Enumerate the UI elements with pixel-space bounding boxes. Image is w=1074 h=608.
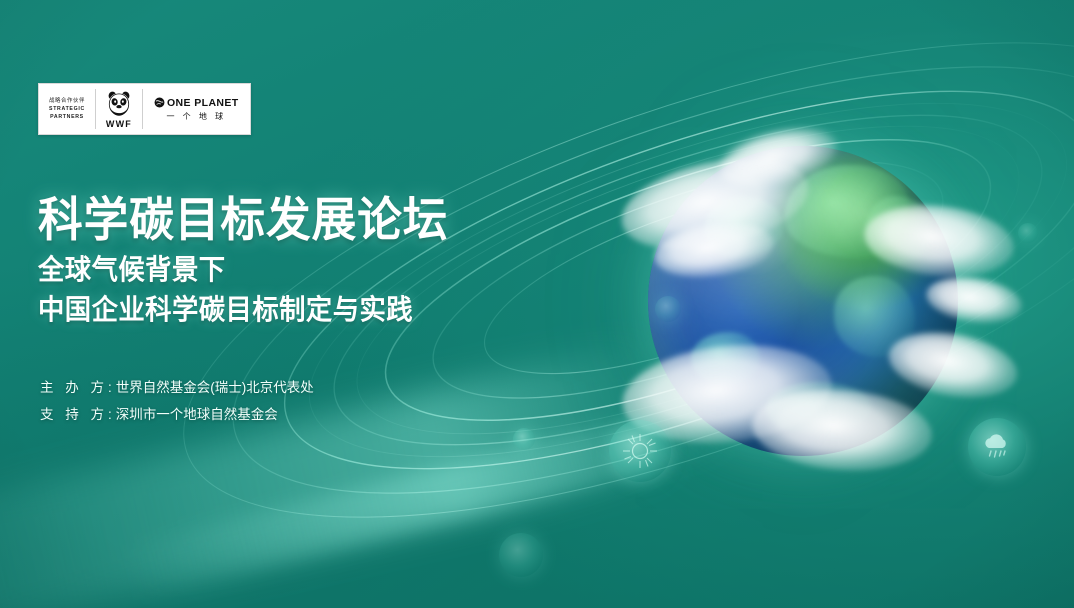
glow-orb-icon bbox=[513, 428, 535, 450]
globe-mark-icon bbox=[154, 97, 165, 108]
main-title: 科学碳目标发展论坛 bbox=[38, 196, 448, 243]
partner-cn-label: 战略合作伙伴 bbox=[49, 97, 85, 105]
supporter-value: 深圳市一个地球自然基金会 bbox=[116, 407, 278, 422]
partner-logo-bar: 战略合作伙伴 STRATEGIC PARTNERS WWF bbox=[38, 83, 251, 135]
credits-block: 主 办 方:世界自然基金会(瑞士)北京代表处 支 持 方:深圳市一个地球自然基金… bbox=[40, 381, 314, 434]
organizer-line: 主 办 方:世界自然基金会(瑞士)北京代表处 bbox=[40, 381, 314, 395]
wwf-wordmark: WWF bbox=[106, 119, 132, 129]
glow-orb-icon bbox=[499, 533, 543, 577]
wwf-logo-block: WWF bbox=[96, 84, 142, 134]
rain-cloud-icon bbox=[980, 430, 1014, 464]
supporter-line: 支 持 方:深圳市一个地球自然基金会 bbox=[40, 408, 314, 422]
organizer-label: 主 办 方: bbox=[40, 380, 116, 395]
rain-cloud-orb bbox=[968, 418, 1026, 476]
one-planet-en-text: ONE PLANET bbox=[167, 97, 239, 109]
partner-en-line1: STRATEGIC bbox=[49, 105, 85, 113]
one-planet-cn-text: 一 个 地 球 bbox=[166, 111, 226, 122]
strategic-partners-block: 战略合作伙伴 STRATEGIC PARTNERS bbox=[39, 84, 95, 134]
partner-en-line2: PARTNERS bbox=[50, 113, 84, 121]
sun-icon bbox=[620, 431, 660, 471]
sun-orb bbox=[609, 420, 671, 482]
glow-orb-icon bbox=[655, 296, 681, 322]
subtitle-line-1: 全球气候背景下 bbox=[38, 256, 226, 284]
panda-icon bbox=[105, 90, 133, 118]
subtitle-line-2: 中国企业科学碳目标制定与实践 bbox=[38, 296, 413, 324]
glow-orb-icon bbox=[1018, 223, 1038, 243]
one-planet-wordmark: ONE PLANET bbox=[154, 97, 239, 109]
organizer-value: 世界自然基金会(瑞士)北京代表处 bbox=[116, 380, 314, 395]
poster-canvas: 战略合作伙伴 STRATEGIC PARTNERS WWF bbox=[0, 0, 1074, 608]
one-planet-logo-block: ONE PLANET 一 个 地 球 bbox=[143, 84, 250, 134]
supporter-label: 支 持 方: bbox=[40, 407, 116, 422]
